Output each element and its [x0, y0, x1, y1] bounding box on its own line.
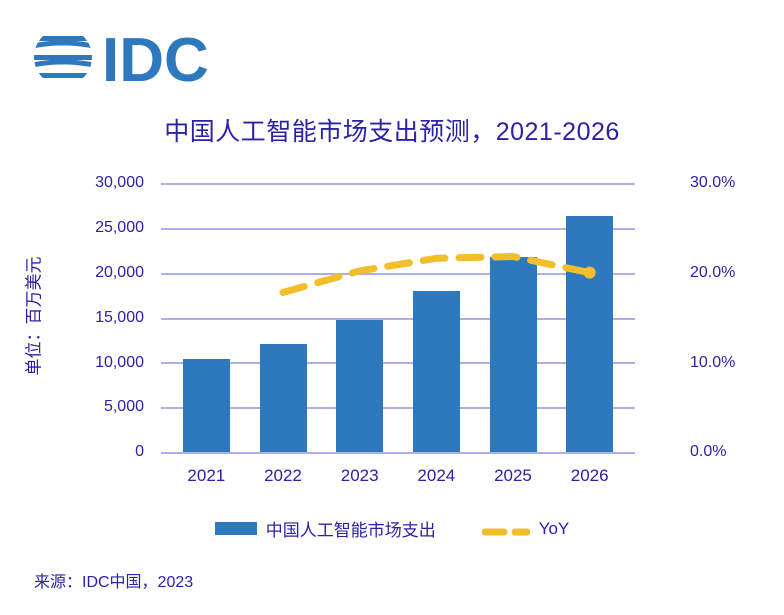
gridline-30000 [168, 183, 628, 185]
gridline-25000 [168, 228, 628, 230]
gridline-10000 [168, 362, 628, 364]
tick-left-0 [161, 452, 168, 454]
plot-area [168, 183, 628, 452]
page-title: 中国人工智能市场支出预测，2021-2026 [0, 112, 784, 148]
legend-item-yoy[interactable]: YoY [482, 519, 570, 539]
tick-right-5 [628, 407, 635, 409]
y-axis-left-tick-30000: 30,000 [95, 174, 144, 192]
legend-item-spending[interactable]: 中国人工智能市场支出 [215, 516, 436, 541]
legend-dashed-line-swatch-icon [482, 523, 530, 535]
chart-page: IDC 中国人工智能市场支出预测，2021-2026 单位：百万美元 30,00… [0, 0, 784, 615]
y-axis-right-tick-10: 10.0% [690, 354, 735, 372]
bar-2022[interactable] [260, 344, 307, 452]
tick-left-15000 [161, 318, 168, 320]
tick-left-20000 [161, 273, 168, 275]
y-axis-left-tick-10000: 10,000 [95, 354, 144, 372]
bar-2021[interactable] [183, 359, 230, 452]
source-note: 来源：IDC中国，2023 [34, 568, 193, 592]
legend-label-yoy: YoY [539, 519, 570, 539]
y-axis-left-tick-20000: 20,000 [95, 264, 144, 282]
y-axis-left-tick-0: 0 [135, 443, 144, 461]
legend-bar-swatch-icon [215, 522, 257, 535]
x-axis-tick-2024: 2024 [398, 466, 475, 486]
x-axis-tick-2026: 2026 [551, 466, 628, 486]
y-axis-right-tick-0: 0.0% [690, 443, 726, 461]
y-axis-right-tick-20: 20.0% [690, 264, 735, 282]
y-axis-left-title: 单位：百万美元 [20, 257, 45, 376]
x-axis-tick-2025: 2025 [475, 466, 552, 486]
bar-2024[interactable] [413, 291, 460, 452]
x-axis-tick-2022: 2022 [245, 466, 322, 486]
tick-left-25000 [161, 228, 168, 230]
idc-globe-logo: IDC [30, 26, 260, 88]
y-axis-right-tick-30: 30.0% [690, 174, 735, 192]
legend-label-spending: 中国人工智能市场支出 [266, 516, 436, 541]
tick-left-30000 [161, 183, 168, 185]
idc-logo: IDC [30, 26, 260, 88]
logo-wordmark: IDC [102, 26, 209, 88]
gridline-5000 [168, 407, 628, 409]
chart-legend: 中国人工智能市场支出 YoY [0, 516, 784, 541]
tick-right-15 [628, 318, 635, 320]
y-axis-left-tick-5000: 5,000 [104, 398, 144, 416]
x-axis-tick-2021: 2021 [168, 466, 245, 486]
tick-left-10000 [161, 362, 168, 364]
gridline-15000 [168, 318, 628, 320]
bar-2025[interactable] [490, 257, 537, 452]
y-axis-left-tick-25000: 25,000 [95, 219, 144, 237]
tick-right-25 [628, 228, 635, 230]
bar-2026[interactable] [566, 216, 613, 452]
tick-right-0 [628, 452, 635, 454]
gridline-20000 [168, 273, 628, 275]
tick-right-30 [628, 183, 635, 185]
bar-2023[interactable] [336, 320, 383, 452]
y-axis-left-tick-15000: 15,000 [95, 309, 144, 327]
tick-right-10 [628, 362, 635, 364]
tick-left-5000 [161, 407, 168, 409]
x-axis-tick-2023: 2023 [321, 466, 398, 486]
x-axis-line [168, 452, 628, 454]
tick-right-20 [628, 273, 635, 275]
